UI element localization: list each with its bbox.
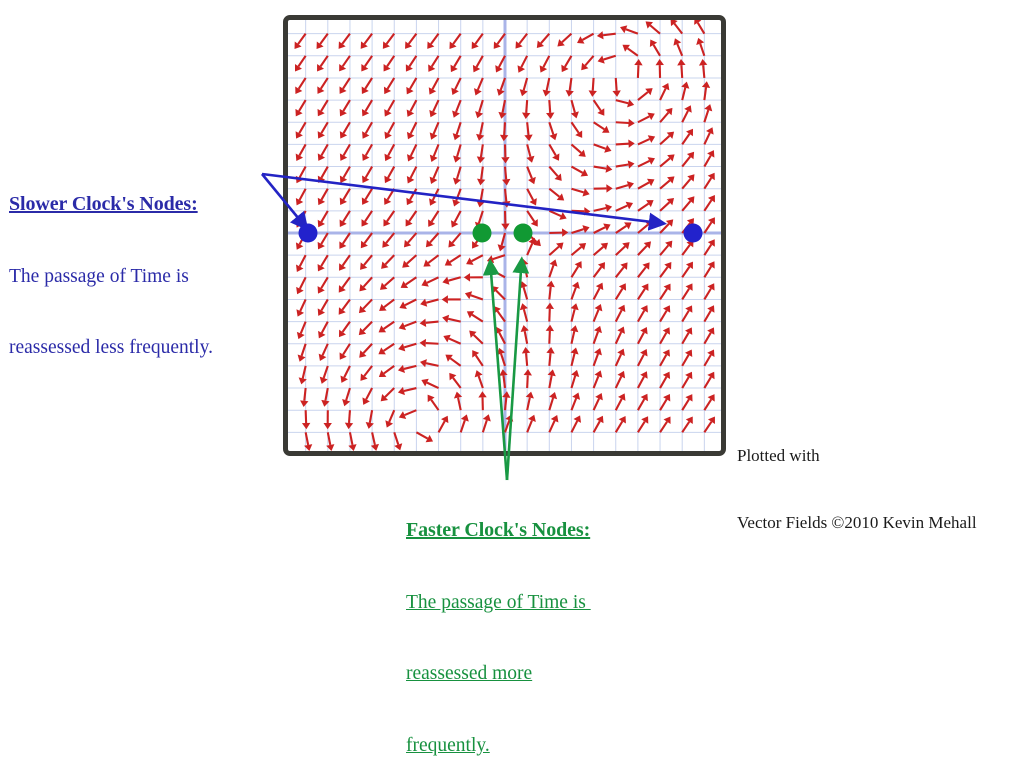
plot-credit: Plotted with Vector Fields ©2010 Kevin M… (737, 400, 977, 557)
credit-line2: Vector Fields ©2010 Kevin Mehall (737, 512, 977, 534)
faster-annotation-line2: reassessed more (406, 662, 591, 686)
slower-annotation-heading: Slower Clock's Nodes: (9, 192, 213, 217)
vector-field-arrows (288, 20, 721, 451)
vector-field-plot (283, 15, 726, 456)
faster-annotation-line1: The passage of Time is (406, 591, 591, 615)
credit-line1: Plotted with (737, 445, 977, 467)
faster-annotation-heading: Faster Clock's Nodes: (406, 518, 591, 543)
faster-clock-annotation: Faster Clock's Nodes: The passage of Tim… (406, 470, 591, 782)
plot-inner-canvas (288, 20, 721, 451)
slower-clock-annotation: Slower Clock's Nodes: The passage of Tim… (9, 144, 213, 384)
faster-annotation-line3: frequently. (406, 734, 591, 758)
slower-annotation-line2: reassessed less frequently. (9, 336, 213, 360)
slower-annotation-line1: The passage of Time is (9, 265, 213, 289)
